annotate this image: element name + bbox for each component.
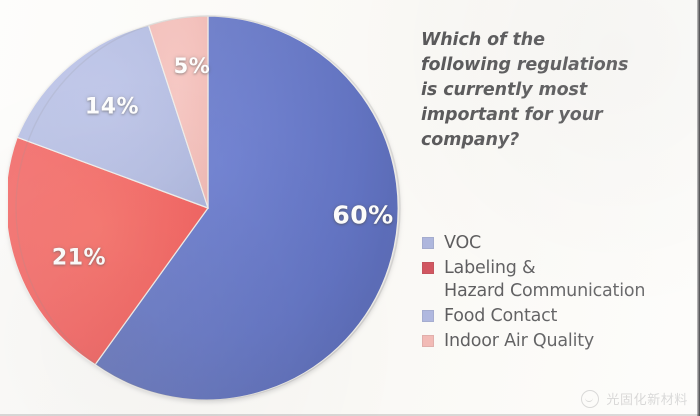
legend-swatch-voc-icon xyxy=(422,237,434,249)
question-line-3: is currently most xyxy=(421,78,689,103)
chart-side-panel: Which of the following regulations is cu… xyxy=(416,0,694,416)
pie-chart: 60% 21% 14% 5% xyxy=(8,8,408,408)
legend-label-labeling-group: Labeling & Hazard Communication xyxy=(444,257,645,303)
chart-legend: VOC Labeling & Hazard Communication Food… xyxy=(422,232,694,355)
pie-label-food-contact: 14% xyxy=(85,95,139,120)
legend-label-labeling-line2: Hazard Communication xyxy=(444,281,645,301)
question-line-2: following regulations xyxy=(421,53,689,78)
legend-label-labeling-line1: Labeling & xyxy=(444,258,535,278)
legend-item-food-contact[interactable]: Food Contact xyxy=(422,305,694,328)
watermark: 光固化新材料 xyxy=(581,389,688,408)
watermark-text: 光固化新材料 xyxy=(606,389,688,408)
legend-label-voc: VOC xyxy=(444,232,481,255)
pie-label-voc: 60% xyxy=(332,201,393,230)
question-line-1: Which of the xyxy=(421,28,689,53)
legend-item-voc[interactable]: VOC xyxy=(422,232,694,255)
legend-item-labeling[interactable]: Labeling & Hazard Communication xyxy=(422,257,694,303)
chart-page: 60% 21% 14% 5% Which of the following re… xyxy=(0,0,700,416)
watermark-logo-icon xyxy=(581,390,599,408)
legend-swatch-labeling-icon xyxy=(422,262,434,274)
pie-label-indoor-air: 5% xyxy=(174,54,211,78)
legend-label-indoor-air: Indoor Air Quality xyxy=(444,330,594,353)
question-line-4: important for your xyxy=(421,103,689,128)
question-title: Which of the following regulations is cu… xyxy=(421,28,689,153)
legend-swatch-food-contact-icon xyxy=(422,310,434,322)
legend-label-food-contact: Food Contact xyxy=(444,305,557,328)
legend-swatch-indoor-air-icon xyxy=(422,335,434,347)
legend-item-indoor-air[interactable]: Indoor Air Quality xyxy=(422,330,694,353)
question-line-5: company? xyxy=(421,128,689,153)
pie-label-labeling: 21% xyxy=(52,246,106,271)
